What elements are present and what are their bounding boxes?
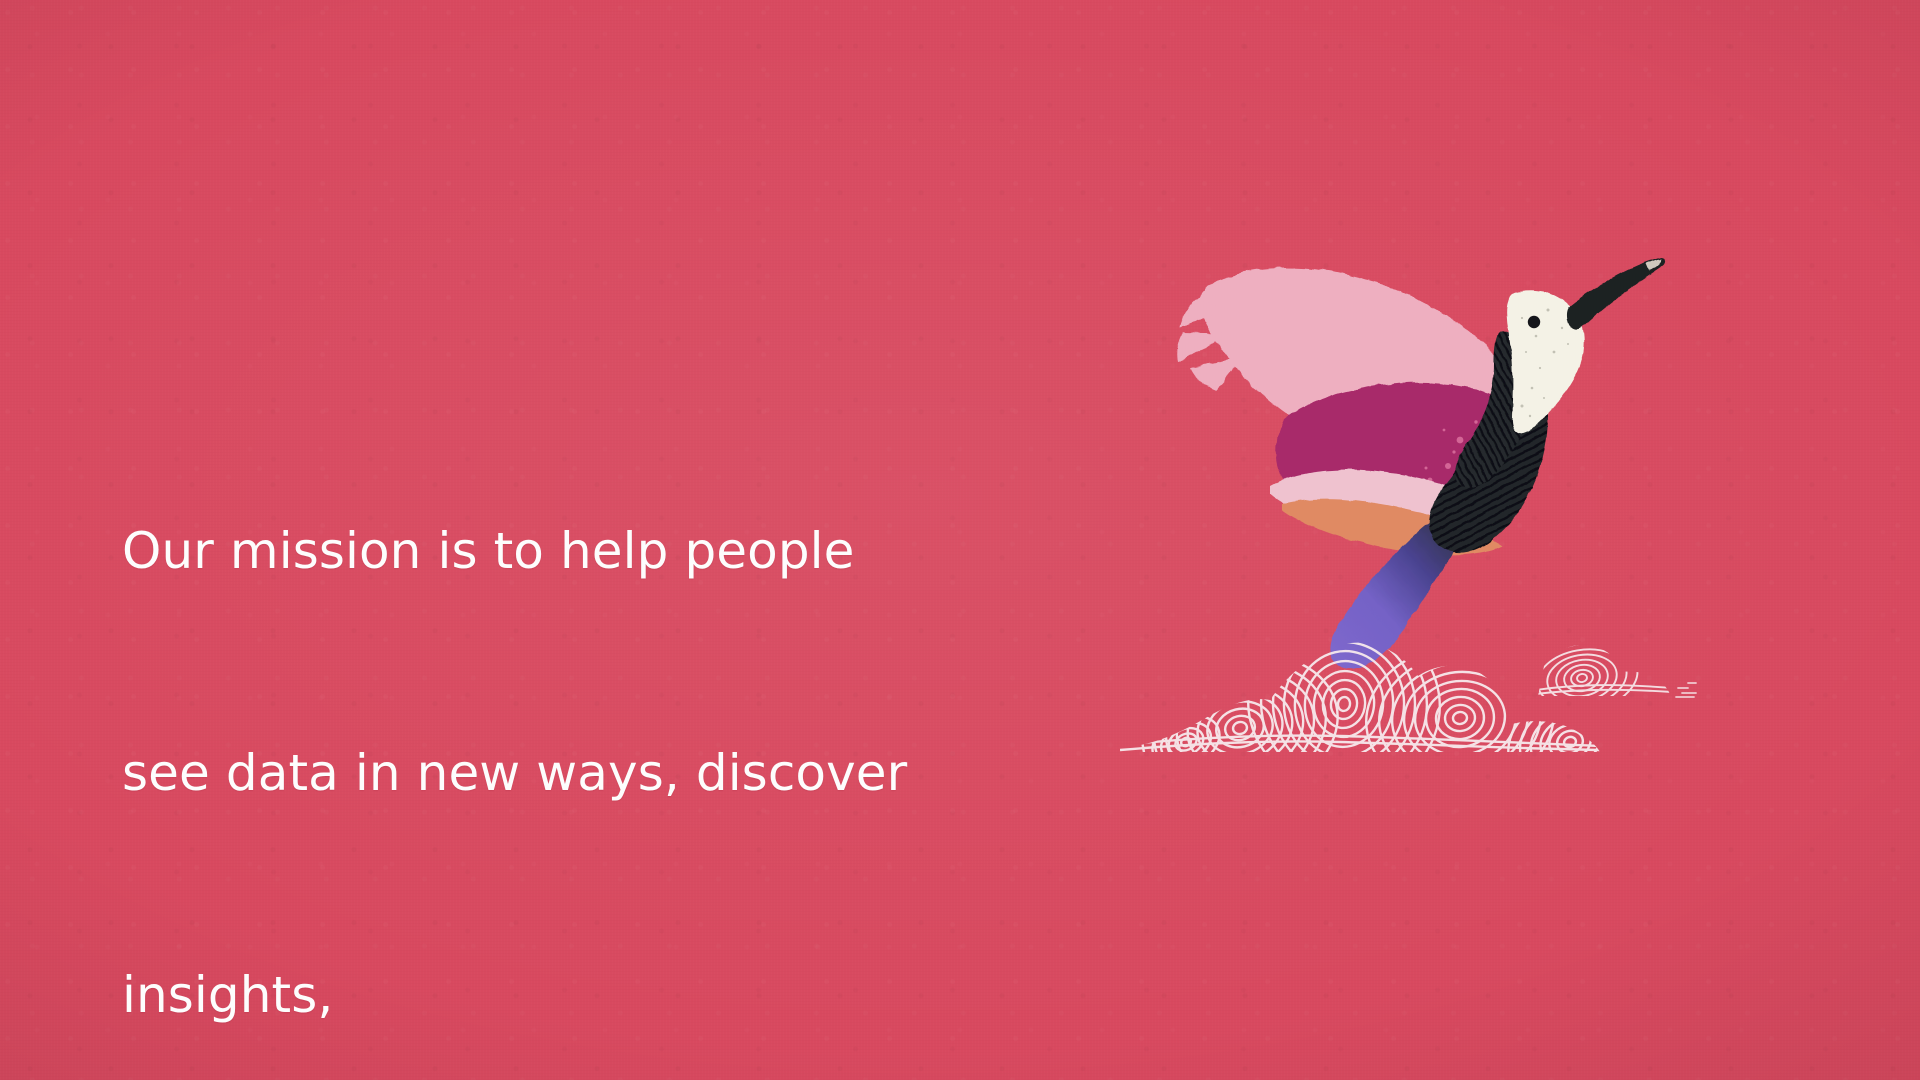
fingerprint-ground-pattern xyxy=(1130,600,1710,800)
slide-canvas: Our mission is to help people see data i… xyxy=(0,0,1920,1080)
mission-statement: Our mission is to help people see data i… xyxy=(122,366,1102,1080)
ground-fingerprint-lines xyxy=(1120,600,1644,822)
bird-beak xyxy=(1567,257,1666,328)
bird-eye xyxy=(1528,316,1540,328)
mission-line-2: see data in new ways, discover xyxy=(122,736,1102,810)
mission-line-3: insights, xyxy=(122,958,1102,1032)
mission-line-1: Our mission is to help people xyxy=(122,514,1102,588)
small-cloud-fingerprint xyxy=(1521,635,1672,721)
cloud-trailing-dashes xyxy=(1676,683,1696,697)
